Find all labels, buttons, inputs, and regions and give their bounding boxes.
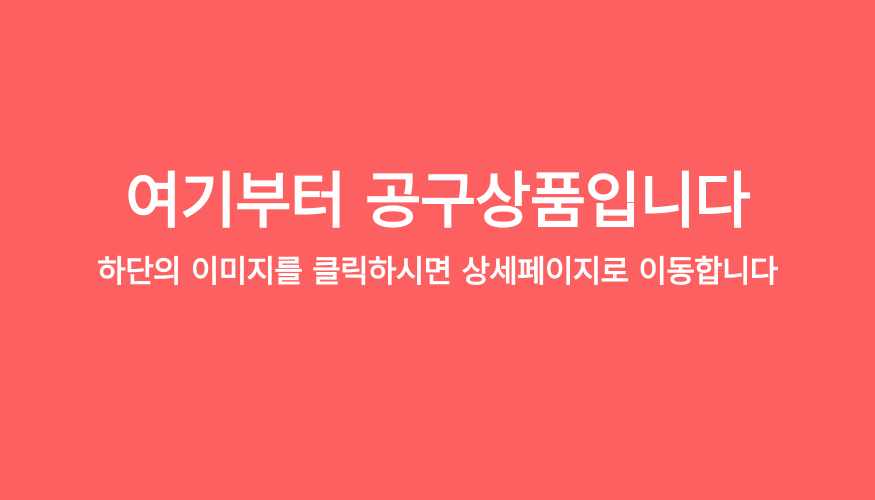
group-buy-notice-banner: 여기부터 공구상품입니다 하단의 이미지를 클릭하시면 상세페이지로 이동합니다 [0,0,875,500]
banner-text-block: 여기부터 공구상품입니다 하단의 이미지를 클릭하시면 상세페이지로 이동합니다 [0,168,875,291]
banner-empty-area [0,310,875,500]
banner-headline: 여기부터 공구상품입니다 [125,168,749,236]
banner-subtitle: 하단의 이미지를 클릭하시면 상세페이지로 이동합니다 [97,254,777,291]
